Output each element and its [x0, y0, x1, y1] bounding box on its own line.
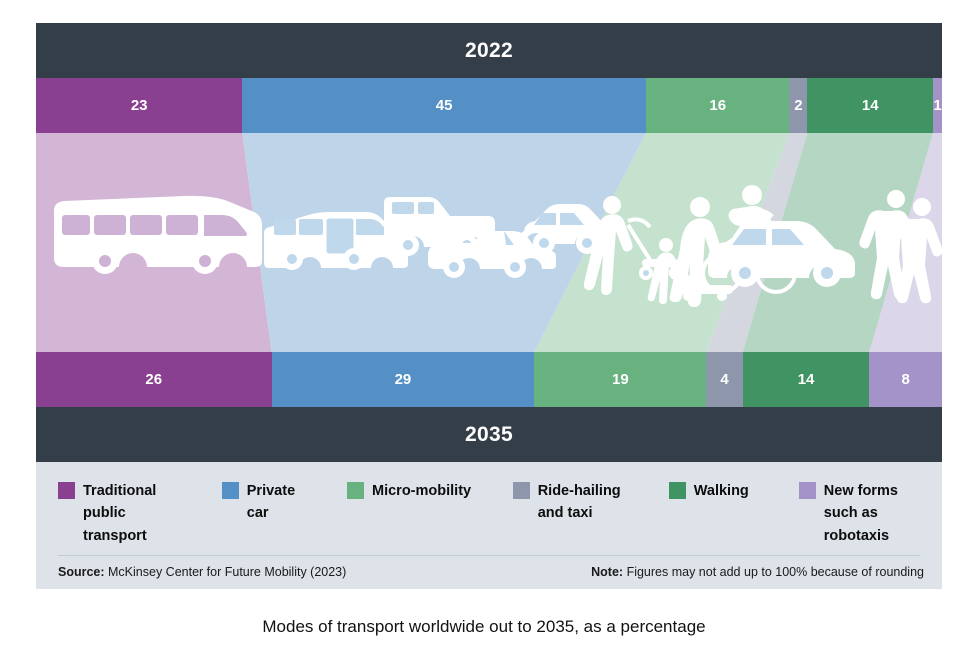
segment-value: 1	[933, 97, 941, 114]
segment-value: 14	[862, 97, 879, 114]
bar-segment-2022-traditional-public-transport: 23	[36, 78, 242, 133]
bar-segment-2035-micro-mobility: 19	[534, 352, 706, 407]
legend-swatch-private-car	[222, 482, 239, 499]
legend-panel: Traditional public transportPrivate carM…	[36, 462, 942, 589]
bar-segment-2035-new-forms-such-as-robotaxis: 8	[869, 352, 941, 407]
flow-illustration-band	[36, 133, 942, 352]
segment-value: 2	[794, 97, 802, 114]
year-label-top: 2022	[36, 23, 942, 78]
legend-swatch-traditional-public-transport	[58, 482, 75, 499]
note-label: Note:	[591, 565, 623, 579]
legend-item-new-forms-such-as-robotaxis: New forms such as robotaxis	[799, 480, 924, 547]
year-label-top-text: 2022	[465, 39, 513, 63]
legend-item-micro-mobility: Micro-mobility	[347, 480, 513, 547]
segment-value: 19	[612, 371, 629, 388]
legend-label-private-car: Private car	[247, 480, 295, 525]
year-label-bottom: 2035	[36, 407, 942, 462]
bar-segment-2022-micro-mobility: 16	[646, 78, 790, 133]
bar-segment-2035-walking: 14	[743, 352, 870, 407]
legend-item-traditional-public-transport: Traditional public transport	[58, 480, 222, 547]
segment-value: 23	[131, 97, 148, 114]
source-label: Source:	[58, 565, 105, 579]
source-note: Source: McKinsey Center for Future Mobil…	[58, 565, 346, 579]
bar-segment-2022-private-car: 45	[242, 78, 646, 133]
year-label-bottom-text: 2035	[465, 423, 513, 447]
segment-value: 45	[436, 97, 453, 114]
note-text: Figures may not add up to 100% because o…	[623, 565, 924, 579]
legend-item-private-car: Private car	[222, 480, 347, 547]
legend-label-micro-mobility: Micro-mobility	[372, 480, 471, 502]
segment-value: 29	[395, 371, 412, 388]
legend-label-ride-hailing-and-taxi: Ride-hailing and taxi	[538, 480, 621, 525]
legend-label-new-forms-such-as-robotaxis: New forms such as robotaxis	[824, 480, 898, 547]
legend-item-ride-hailing-and-taxi: Ride-hailing and taxi	[513, 480, 669, 547]
transport-silhouettes	[36, 133, 942, 352]
taxi-sedan-icon	[708, 221, 855, 287]
chart-card: 2022 2345162141	[36, 23, 942, 589]
bar-segment-2035-private-car: 29	[272, 352, 535, 407]
legend-item-walking: Walking	[669, 480, 799, 547]
segment-value: 14	[798, 371, 815, 388]
segment-value: 4	[720, 371, 728, 388]
legend-swatch-micro-mobility	[347, 482, 364, 499]
walking-pedestrians-icon	[859, 190, 942, 303]
rounding-note: Note: Figures may not add up to 100% bec…	[591, 565, 924, 579]
bar-segment-2022-new-forms-such-as-robotaxis: 1	[933, 78, 942, 133]
segment-value: 8	[902, 371, 910, 388]
legend-label-traditional-public-transport: Traditional public transport	[83, 480, 156, 547]
legend-swatch-ride-hailing-and-taxi	[513, 482, 530, 499]
bar-segment-2035-traditional-public-transport: 26	[36, 352, 272, 407]
stacked-bar-2035: 2629194148	[36, 352, 942, 407]
bar-segment-2022-walking: 14	[807, 78, 933, 133]
footnotes: Source: McKinsey Center for Future Mobil…	[58, 565, 924, 579]
bar-segment-2035-ride-hailing-and-taxi: 4	[706, 352, 742, 407]
bar-segment-2022-ride-hailing-and-taxi: 2	[789, 78, 807, 133]
legend-label-walking: Walking	[694, 480, 749, 502]
stacked-bar-2022: 2345162141	[36, 78, 942, 133]
coach-bus-icon	[54, 196, 262, 274]
segment-value: 16	[709, 97, 726, 114]
figure-caption: Modes of transport worldwide out to 2035…	[0, 617, 968, 637]
legend-items: Traditional public transportPrivate carM…	[58, 480, 924, 547]
infographic-root: 2022 2345162141	[0, 0, 968, 658]
legend-divider	[58, 555, 920, 556]
source-text: McKinsey Center for Future Mobility (202…	[105, 565, 347, 579]
legend-swatch-new-forms-such-as-robotaxis	[799, 482, 816, 499]
segment-value: 26	[145, 371, 162, 388]
legend-swatch-walking	[669, 482, 686, 499]
